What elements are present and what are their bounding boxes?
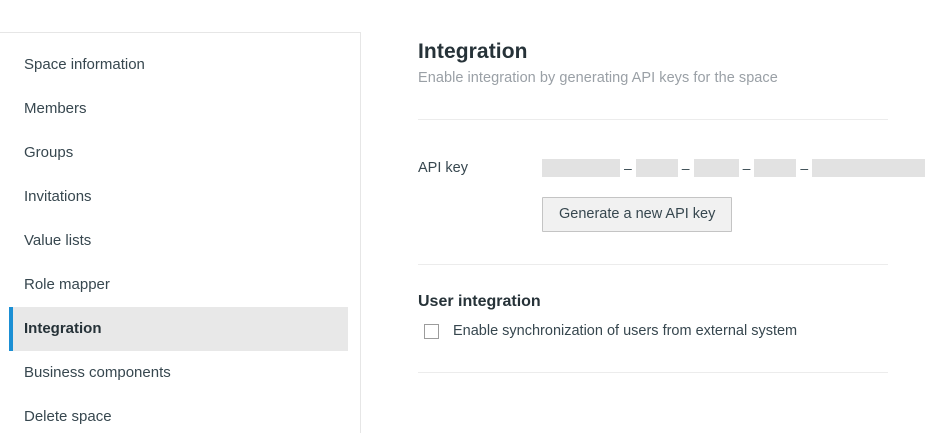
integration-panel: Integration Enable integration by genera…: [362, 0, 940, 433]
divider-top: [418, 119, 888, 120]
generate-button-row: Generate a new API key: [418, 197, 888, 232]
settings-page: Space information Members Groups Invitat…: [0, 0, 940, 433]
settings-sidebar: Space information Members Groups Invitat…: [0, 32, 361, 433]
user-integration-section: User integration Enable synchronization …: [418, 293, 888, 339]
sidebar-nav-list: Space information Members Groups Invitat…: [0, 43, 360, 439]
api-key-separator: –: [796, 159, 812, 177]
enable-user-sync-label[interactable]: Enable synchronization of users from ext…: [453, 323, 797, 339]
user-integration-title: User integration: [418, 293, 888, 311]
sidebar-item-label: Members: [24, 100, 87, 117]
sidebar-item-integration[interactable]: Integration: [13, 307, 348, 351]
sidebar-item-groups[interactable]: Groups: [13, 131, 348, 175]
divider-bottom: [418, 372, 888, 373]
sidebar-item-label: Space information: [24, 56, 145, 73]
api-key-segment-1: [542, 159, 620, 177]
sidebar-item-business-components[interactable]: Business components: [13, 351, 348, 395]
api-key-row: API key – – – –: [418, 159, 888, 177]
api-key-label: API key: [418, 160, 542, 176]
sidebar-item-value-lists[interactable]: Value lists: [13, 219, 348, 263]
page-title: Integration: [418, 40, 888, 64]
enable-user-sync-row[interactable]: Enable synchronization of users from ext…: [418, 323, 888, 339]
api-key-segment-5: [812, 159, 925, 177]
sidebar-item-label: Value lists: [24, 232, 91, 249]
api-key-segment-3: [694, 159, 739, 177]
api-key-value-masked: – – – –: [542, 159, 925, 177]
api-key-segment-4: [754, 159, 796, 177]
api-key-segment-2: [636, 159, 678, 177]
sidebar-item-label: Invitations: [24, 188, 92, 205]
sidebar-item-label: Groups: [24, 144, 73, 161]
generate-new-api-key-button[interactable]: Generate a new API key: [542, 197, 732, 232]
page-subtitle: Enable integration by generating API key…: [418, 70, 888, 86]
enable-user-sync-checkbox[interactable]: [424, 324, 439, 339]
divider-middle: [418, 264, 888, 265]
sidebar-item-invitations[interactable]: Invitations: [13, 175, 348, 219]
sidebar-item-delete-space[interactable]: Delete space: [13, 395, 348, 439]
sidebar-item-space-information[interactable]: Space information: [13, 43, 348, 87]
sidebar-item-label: Role mapper: [24, 276, 110, 293]
sidebar-item-label: Integration: [24, 320, 102, 337]
sidebar-item-members[interactable]: Members: [13, 87, 348, 131]
api-key-separator: –: [739, 159, 755, 177]
sidebar-item-label: Business components: [24, 364, 171, 381]
api-key-separator: –: [678, 159, 694, 177]
sidebar-item-role-mapper[interactable]: Role mapper: [13, 263, 348, 307]
sidebar-item-label: Delete space: [24, 408, 112, 425]
api-key-separator: –: [620, 159, 636, 177]
